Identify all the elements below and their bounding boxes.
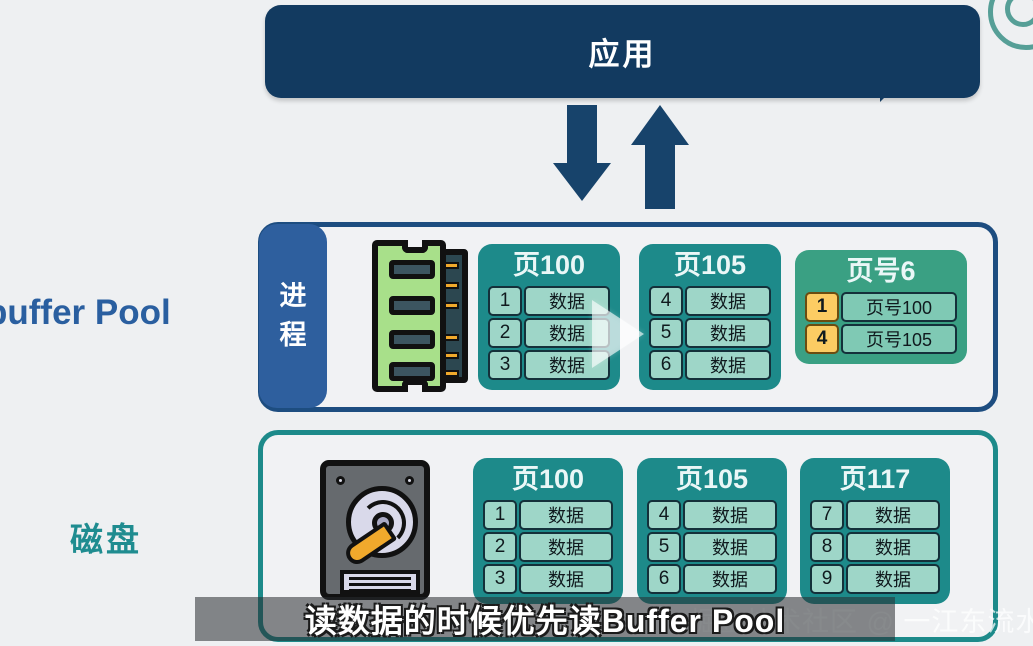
page-rows: 7数据 8数据 9数据 xyxy=(810,500,940,594)
io-arrows-group xyxy=(545,105,705,210)
page-rows: 1数据 2数据 3数据 xyxy=(483,500,613,594)
row-index: 7 xyxy=(810,500,844,530)
page-row: 8数据 xyxy=(810,532,940,562)
page-rows: 4数据 5数据 6数据 xyxy=(647,500,777,594)
subtitle-text: 读数据的时候优先读Buffer Pool xyxy=(305,596,785,642)
disk-label: 磁盘 xyxy=(70,513,142,561)
page-row: 1数据 xyxy=(483,500,613,530)
row-index: 6 xyxy=(647,564,681,594)
application-box-tail-icon xyxy=(880,90,892,102)
row-index: 1 xyxy=(488,286,522,316)
page-row: 5数据 xyxy=(649,318,771,348)
page-block-title: 页117 xyxy=(810,464,940,495)
page-block-title: 页100 xyxy=(488,250,610,281)
row-value: 数据 xyxy=(519,500,613,530)
page-block-title: 页105 xyxy=(649,250,771,281)
hard-disk-icon xyxy=(320,460,430,600)
play-triangle-icon[interactable] xyxy=(592,300,644,368)
row-value: 数据 xyxy=(683,500,777,530)
page-row: 3数据 xyxy=(483,564,613,594)
row-value: 数据 xyxy=(685,286,771,316)
page-block[interactable]: 页105 4数据 5数据 6数据 xyxy=(639,244,781,390)
row-value: 数据 xyxy=(519,564,613,594)
row-index-highlight: 1 xyxy=(805,292,839,322)
ram-stick-icon xyxy=(372,240,468,392)
row-index: 6 xyxy=(649,350,683,380)
process-tab-char-2: 程 xyxy=(280,316,307,355)
buffer-pool-label: buffer Pool xyxy=(0,293,171,333)
row-value: 数据 xyxy=(846,532,940,562)
process-tab-char-1: 进 xyxy=(280,277,307,316)
page-map-block[interactable]: 页号6 1页号100 4页号105 xyxy=(795,250,967,364)
page-block[interactable]: 页100 1数据 2数据 3数据 xyxy=(473,458,623,604)
spiral-watermark-icon xyxy=(988,0,1033,50)
row-index: 3 xyxy=(488,350,522,380)
page-block-title: 页105 xyxy=(647,464,777,495)
page-block-title: 页100 xyxy=(483,464,613,495)
row-value: 数据 xyxy=(683,532,777,562)
page-row: 4数据 xyxy=(647,500,777,530)
page-map-title: 页号6 xyxy=(805,256,957,287)
row-index: 1 xyxy=(483,500,517,530)
page-map-row: 4页号105 xyxy=(805,324,957,354)
diagram-canvas: 应用 buffer Pool 磁盘 进 程 xyxy=(0,0,1033,646)
page-map-row: 1页号100 xyxy=(805,292,957,322)
page-row: 6数据 xyxy=(649,350,771,380)
page-row: 9数据 xyxy=(810,564,940,594)
row-index: 3 xyxy=(483,564,517,594)
row-value: 数据 xyxy=(846,564,940,594)
row-value: 数据 xyxy=(685,318,771,348)
page-row: 7数据 xyxy=(810,500,940,530)
row-index: 2 xyxy=(483,532,517,562)
row-value: 数据 xyxy=(683,564,777,594)
row-value: 数据 xyxy=(685,350,771,380)
row-index: 2 xyxy=(488,318,522,348)
row-index: 5 xyxy=(649,318,683,348)
page-block[interactable]: 页117 7数据 8数据 9数据 xyxy=(800,458,950,604)
page-row: 4数据 xyxy=(649,286,771,316)
row-index: 5 xyxy=(647,532,681,562)
row-index: 9 xyxy=(810,564,844,594)
row-value: 数据 xyxy=(519,532,613,562)
page-map-rows: 1页号100 4页号105 xyxy=(805,292,957,354)
row-value: 页号100 xyxy=(841,292,957,322)
subtitle-bar: 读数据的时候优先读Buffer Pool xyxy=(195,597,895,641)
page-row: 5数据 xyxy=(647,532,777,562)
row-value: 数据 xyxy=(846,500,940,530)
row-value: 页号105 xyxy=(841,324,957,354)
page-row: 6数据 xyxy=(647,564,777,594)
application-box: 应用 xyxy=(265,5,980,98)
process-tab: 进 程 xyxy=(259,224,327,408)
row-index: 4 xyxy=(647,500,681,530)
row-index-highlight: 4 xyxy=(805,324,839,354)
application-label: 应用 xyxy=(265,5,980,98)
row-index: 4 xyxy=(649,286,683,316)
page-block[interactable]: 页105 4数据 5数据 6数据 xyxy=(637,458,787,604)
page-rows: 4数据 5数据 6数据 xyxy=(649,286,771,380)
row-index: 8 xyxy=(810,532,844,562)
page-row: 2数据 xyxy=(483,532,613,562)
